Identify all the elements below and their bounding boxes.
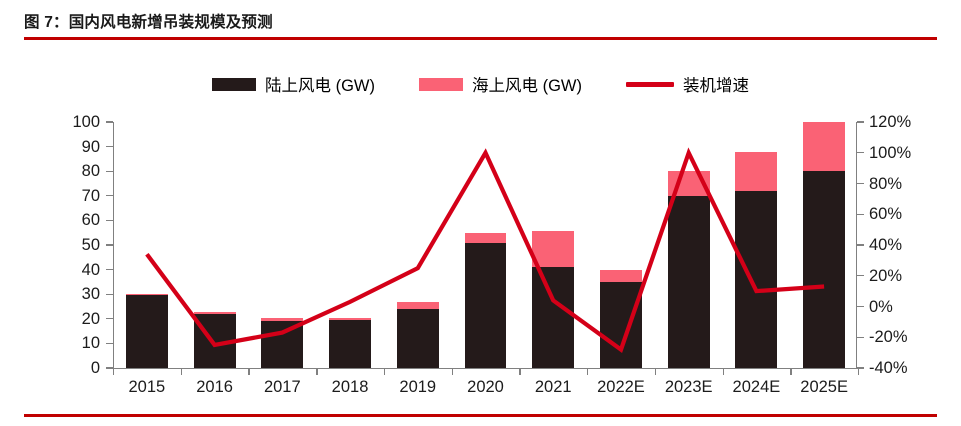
x-tick (384, 368, 385, 375)
y-axis-left-label: 10 (44, 335, 100, 351)
bar-segment-offshore (600, 270, 642, 282)
bar-group (261, 318, 303, 368)
bar-segment-offshore (735, 152, 777, 191)
y-axis-left-label: 90 (44, 139, 100, 155)
x-tick (723, 368, 724, 375)
bar-segment-onshore (668, 196, 710, 368)
bar-segment-offshore (126, 294, 168, 295)
y-tick-left (106, 195, 113, 196)
x-tick (181, 368, 182, 375)
y-axis-right-label: -20% (869, 329, 949, 345)
x-tick (587, 368, 588, 375)
y-tick-right (857, 306, 864, 307)
legend-label: 装机增速 (683, 72, 749, 96)
bar-group (465, 233, 507, 368)
y-tick-right (857, 275, 864, 276)
bar-segment-onshore (803, 171, 845, 368)
bar-group (668, 171, 710, 368)
x-tick (790, 368, 791, 375)
bar-segment-onshore (194, 314, 236, 368)
y-tick-right (857, 214, 864, 215)
y-tick-left (106, 171, 113, 172)
y-axis-right-label: 40% (869, 237, 949, 253)
plot-area (113, 122, 857, 368)
bar-segment-onshore (397, 309, 439, 368)
y-axis-left-label: 50 (44, 237, 100, 253)
bar-segment-onshore (532, 267, 574, 368)
legend-item-2: 海上风电 (GW) (419, 72, 582, 96)
y-tick-right (857, 152, 864, 153)
legend-label: 陆上风电 (GW) (265, 72, 375, 96)
bar-group (735, 152, 777, 368)
y-axis-right-label: -40% (869, 360, 949, 376)
bar-segment-onshore (261, 321, 303, 368)
bar-segment-offshore (397, 302, 439, 309)
bar-segment-onshore (735, 191, 777, 368)
y-tick-left (106, 367, 113, 368)
bar-group (397, 302, 439, 368)
bar-segment-onshore (465, 243, 507, 368)
bar-segment-offshore (803, 122, 845, 171)
y-tick-right (857, 244, 864, 245)
y-axis-right-label: 60% (869, 206, 949, 222)
y-axis-left-label: 0 (44, 360, 100, 376)
y-axis-right-label: 20% (869, 268, 949, 284)
bar-group (126, 294, 168, 368)
y-tick-left (106, 121, 113, 122)
bar-segment-offshore (261, 318, 303, 321)
bar-group (194, 312, 236, 368)
x-tick (452, 368, 453, 375)
x-tick (113, 368, 114, 375)
y-axis-left-label: 60 (44, 212, 100, 228)
bar-group (803, 122, 845, 368)
x-axis-line (113, 368, 858, 369)
y-tick-left (106, 269, 113, 270)
y-axis-left-label: 30 (44, 286, 100, 302)
y-tick-left (106, 343, 113, 344)
bar-segment-offshore (329, 318, 371, 320)
bar-segment-offshore (194, 312, 236, 313)
bar-group (600, 270, 642, 368)
y-axis-right-label: 0% (869, 299, 949, 315)
y-tick-left (106, 146, 113, 147)
y-tick-left (106, 244, 113, 245)
bar-segment-onshore (600, 282, 642, 368)
x-tick (655, 368, 656, 375)
y-tick-left (106, 294, 113, 295)
chart-legend: 陆上风电 (GW)海上风电 (GW)装机增速 (0, 72, 961, 96)
y-tick-right (857, 183, 864, 184)
x-tick (858, 368, 859, 375)
red-line-swatch (626, 82, 674, 87)
legend-item-3: 装机增速 (626, 72, 749, 96)
chart-container: 0102030405060708090100 -40%-20%0%20%40%6… (0, 106, 961, 396)
black-square-swatch (212, 78, 256, 91)
y-tick-left (106, 220, 113, 221)
y-axis-left-label: 20 (44, 311, 100, 327)
y-axis-left-label: 40 (44, 262, 100, 278)
footer-divider (24, 414, 937, 417)
bar-group (329, 318, 371, 368)
pink-square-swatch (419, 78, 463, 91)
page-title: 图 7：国内风电新增吊装规模及预测 (24, 13, 937, 33)
bar-segment-offshore (532, 231, 574, 267)
y-axis-right-label: 120% (869, 114, 949, 130)
y-axis-left-label: 100 (44, 114, 100, 130)
x-tick (519, 368, 520, 375)
y-axis-left-label: 70 (44, 188, 100, 204)
bar-group (532, 231, 574, 368)
y-tick-right (857, 337, 864, 338)
y-axis-right-label: 80% (869, 176, 949, 192)
y-tick-left (106, 318, 113, 319)
x-axis-label: 2025E (779, 378, 869, 397)
bar-segment-offshore (465, 233, 507, 243)
y-axis-left-label: 80 (44, 163, 100, 179)
legend-label: 海上风电 (GW) (472, 72, 582, 96)
y-tick-right (857, 121, 864, 122)
x-tick (316, 368, 317, 375)
bar-segment-onshore (329, 320, 371, 368)
x-tick (248, 368, 249, 375)
bar-segment-offshore (668, 171, 710, 196)
title-divider (24, 37, 937, 40)
bar-segment-onshore (126, 295, 168, 368)
legend-item-1: 陆上风电 (GW) (212, 72, 375, 96)
y-axis-right-label: 100% (869, 145, 949, 161)
figure-header: 图 7：国内风电新增吊装规模及预测 (24, 13, 937, 40)
